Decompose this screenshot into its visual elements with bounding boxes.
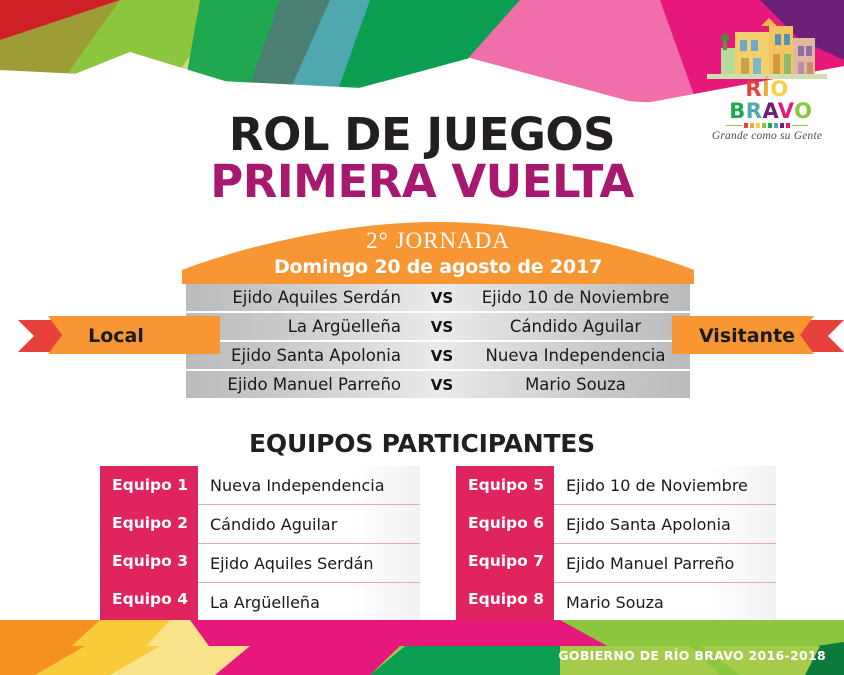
vs-label: VS [415,347,469,365]
home-team: Ejido Santa Apolonia [186,346,415,365]
visitante-ribbon: Visitante [672,314,844,358]
footer-text: GOBIERNO DE RÍO BRAVO 2016-2018 [0,648,826,663]
local-ribbon: Local [18,314,220,358]
away-team: Nueva Independencia [469,346,690,365]
team-label: Equipo 7 [456,542,554,580]
vs-label: VS [415,376,469,394]
teams-name-column: Nueva Independencia Cándido Aguilar Ejid… [198,466,420,621]
visitante-label: Visitante [672,325,822,347]
team-label: Equipo 1 [100,466,198,504]
vs-label: VS [415,289,469,307]
table-row: Ejido Manuel Parreño VS Mario Souza [186,371,690,398]
away-team: Ejido 10 de Noviembre [469,288,690,307]
home-team: Ejido Manuel Parreño [186,375,415,394]
teams-name-column: Ejido 10 de Noviembre Ejido Santa Apolon… [554,466,776,621]
page-subtitle: PRIMERA VUELTA [0,155,844,208]
teams-heading: EQUIPOS PARTICIPANTES [0,429,844,458]
table-row: La Argüelleña VS Cándido Aguilar [186,313,690,340]
teams-column-right: Equipo 5 Equipo 6 Equipo 7 Equipo 8 Ejid… [456,466,776,621]
match-list: Ejido Aquiles Serdán VS Ejido 10 de Novi… [186,284,690,400]
team-name: La Argüelleña [198,583,420,621]
table-row: Ejido Aquiles Serdán VS Ejido 10 de Novi… [186,284,690,311]
team-label: Equipo 5 [456,466,554,504]
team-name: Ejido 10 de Noviembre [554,466,776,505]
team-label: Equipo 4 [100,580,198,618]
away-team: Mario Souza [469,375,690,394]
team-label: Equipo 3 [100,542,198,580]
jornada-label: 2° JORNADA [182,228,694,254]
jornada-banner: 2° JORNADA Domingo 20 de agosto de 2017 [182,222,694,284]
jornada-date: Domingo 20 de agosto de 2017 [182,256,694,278]
team-label: Equipo 2 [100,504,198,542]
team-label: Equipo 6 [456,504,554,542]
teams-table: Equipo 1 Equipo 2 Equipo 3 Equipo 4 Nuev… [100,466,776,621]
local-label: Local [36,325,196,347]
team-name: Ejido Santa Apolonia [554,505,776,544]
team-name: Mario Souza [554,583,776,621]
poster-canvas: RÍO BRAVO Grande como su Gente ROL DE JU… [0,0,844,675]
teams-label-column: Equipo 5 Equipo 6 Equipo 7 Equipo 8 [456,466,554,621]
team-name: Cándido Aguilar [198,505,420,544]
logo-building-icon [707,18,827,80]
teams-label-column: Equipo 1 Equipo 2 Equipo 3 Equipo 4 [100,466,198,621]
vs-label: VS [415,318,469,336]
team-name: Ejido Aquiles Serdán [198,544,420,583]
teams-column-left: Equipo 1 Equipo 2 Equipo 3 Equipo 4 Nuev… [100,466,420,621]
team-name: Nueva Independencia [198,466,420,505]
page-title: ROL DE JUEGOS [0,108,844,161]
home-team: La Argüelleña [186,317,415,336]
team-name: Ejido Manuel Parreño [554,544,776,583]
away-team: Cándido Aguilar [469,317,690,336]
home-team: Ejido Aquiles Serdán [186,288,415,307]
table-row: Ejido Santa Apolonia VS Nueva Independen… [186,342,690,369]
team-label: Equipo 8 [456,580,554,618]
